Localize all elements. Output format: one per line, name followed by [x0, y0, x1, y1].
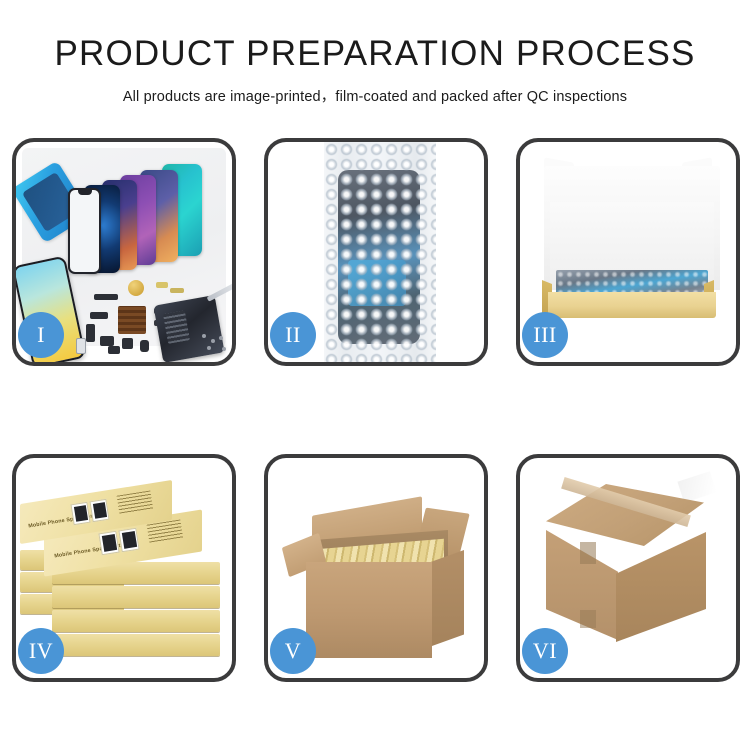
- carton-front-panel-graphic: [306, 562, 432, 658]
- spare-part-graphic: [140, 340, 149, 352]
- spare-part-graphic: [128, 280, 144, 296]
- retail-box-graphic: [52, 586, 220, 608]
- step-badge-3: III: [522, 312, 568, 358]
- process-step-panel-5: V: [264, 454, 488, 682]
- phone-screen-graphic-6: [68, 188, 101, 274]
- step-badge-4: IV: [18, 628, 64, 674]
- spare-part-graphic: [108, 346, 120, 354]
- mailer-front-panel-graphic: [548, 292, 716, 318]
- process-step-panel-4: Mobile Phone Spare Parts Mobile Phone Sp…: [12, 454, 236, 682]
- carton-side-panel-graphic: [432, 550, 464, 646]
- spare-part-graphic: [170, 288, 184, 293]
- retail-box-product-photo: [118, 528, 139, 553]
- process-step-panel-6: VI: [516, 454, 740, 682]
- carton-highlight-graphic: [677, 471, 716, 502]
- process-step-panel-2: II: [264, 138, 488, 366]
- page-title: PRODUCT PREPARATION PROCESS: [0, 0, 750, 73]
- screws-graphic: [202, 334, 228, 352]
- foam-lining-graphic: [550, 202, 714, 280]
- retail-box-product-photo: [89, 499, 109, 522]
- bubble-texture-front: [324, 142, 436, 362]
- sealed-carton-right-panel-graphic: [616, 532, 706, 642]
- page-header: PRODUCT PREPARATION PROCESS All products…: [0, 0, 750, 106]
- spare-part-graphic: [156, 282, 168, 288]
- spare-part-graphic: [122, 338, 133, 349]
- process-step-panel-3: III: [516, 138, 740, 366]
- step-badge-6: VI: [522, 628, 568, 674]
- bubble-wrap-sleeve-graphic: [324, 142, 436, 362]
- retail-box-product-photo: [70, 502, 90, 525]
- retail-box-graphic: [52, 634, 220, 656]
- spare-part-graphic: [100, 336, 114, 346]
- spare-part-graphic: [118, 306, 146, 334]
- step-badge-1: I: [18, 312, 64, 358]
- spare-part-graphic: [76, 338, 86, 354]
- page-subtitle: All products are image-printed，film-coat…: [0, 73, 750, 106]
- spare-part-graphic: [94, 294, 118, 300]
- step-badge-5: V: [270, 628, 316, 674]
- spare-part-graphic: [90, 312, 108, 319]
- spare-part-graphic: [86, 324, 95, 342]
- step-badge-2: II: [270, 312, 316, 358]
- carton-seam-tab-graphic: [580, 610, 596, 628]
- retail-box-product-photo: [98, 531, 119, 556]
- retail-box-graphic: [52, 610, 220, 632]
- process-steps-grid: I II III: [12, 138, 740, 682]
- process-step-panel-1: I: [12, 138, 236, 366]
- carton-seam-tab-graphic: [580, 542, 596, 564]
